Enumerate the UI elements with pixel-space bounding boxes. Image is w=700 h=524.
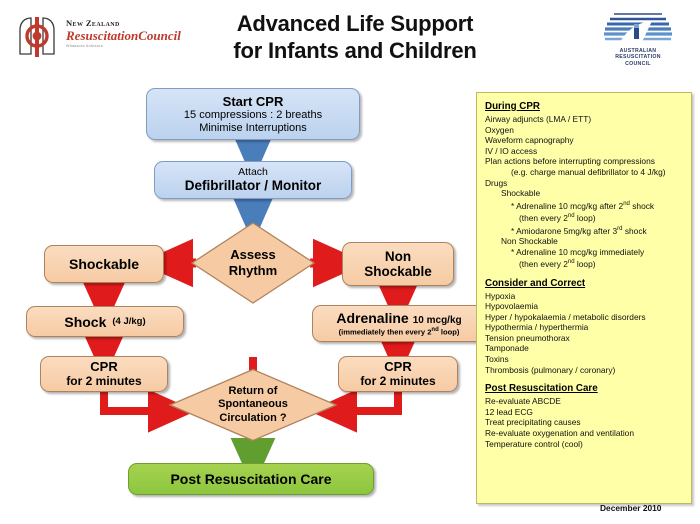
connector-cprright-rosc — [333, 392, 398, 411]
drugs-shockable-label: Shockable — [485, 188, 685, 199]
nz-logo-line2: ResuscitationCouncil — [66, 29, 181, 42]
consider-correct-item: Tamponade — [485, 343, 685, 354]
consider-correct-item: Hyper / hypokalaemia / metabolic disorde… — [485, 312, 685, 323]
drugs-non-shockable-item-2-sup: nd — [568, 259, 575, 265]
node-shock[interactable]: Shock (4 J/kg) — [26, 306, 184, 337]
nz-resuscitation-council-logo: New Zealand ResuscitationCouncil Whakaor… — [14, 14, 174, 64]
node-non-shockable[interactable]: Non Shockable — [342, 242, 454, 286]
node-shockable[interactable]: Shockable — [44, 245, 164, 283]
drugs-non-shockable-item-2-post: loop) — [575, 259, 596, 269]
node-adrenaline[interactable]: Adrenaline 10 mcg/kg (immediately then e… — [312, 305, 486, 342]
panel-spacer — [485, 375, 685, 383]
drugs-non-shockable-item-2-text: (then every 2 — [519, 259, 568, 269]
nz-logo-mark — [14, 14, 60, 60]
drugs-shockable-item-1: * Adrenaline 10 mcg/kg after 2nd shock — [485, 199, 685, 211]
consider-correct-item: Tension pneumothorax — [485, 333, 685, 344]
panel-spacer — [485, 270, 685, 278]
drugs-shockable-item-2-sup: nd — [568, 213, 575, 219]
node-assess-rhythm[interactable]: Assess Rhythm — [190, 221, 316, 305]
drugs-non-shockable-label: Non Shockable — [485, 236, 685, 247]
post-resus-heading: Post Resuscitation Care — [485, 383, 685, 395]
attach-line2: Defibrillator / Monitor — [185, 178, 322, 194]
consider-correct-item: Hypothermia / hyperthermia — [485, 322, 685, 333]
during-cpr-item: Plan actions before interrupting compres… — [485, 156, 685, 167]
arc-logo-text: AUSTRALIAN RESUSCITATION COUNCIL — [590, 48, 686, 67]
adrenaline-dose: 10 mcg/kg — [413, 315, 462, 326]
during-cpr-plan-note: (e.g. charge manual defibrillator to 4 J… — [485, 167, 685, 178]
node-rosc[interactable]: Return of Spontaneous Circulation ? — [168, 368, 338, 442]
during-cpr-item: Airway adjuncts (LMA / ETT) — [485, 114, 685, 125]
connector-cprleft-rosc — [104, 392, 172, 411]
adrenaline-note-sup: nd — [431, 327, 438, 333]
page-title-line1: Advanced Life Support — [175, 10, 535, 37]
during-cpr-item: Oxygen — [485, 125, 685, 136]
consider-correct-heading: Consider and Correct — [485, 278, 685, 290]
drugs-shockable-item-1-text: * Adrenaline 10 mcg/kg after 2 — [511, 201, 623, 211]
rosc-line2: Spontaneous — [218, 398, 288, 412]
rosc-line3: Circulation ? — [219, 412, 286, 426]
node-cpr-left[interactable]: CPR for 2 minutes — [40, 356, 168, 392]
drugs-shockable-item-3: * Amiodarone 5mg/kg after 3rd shock — [485, 224, 685, 236]
drugs-shockable-item-2-post: loop) — [575, 213, 596, 223]
node-post-resuscitation-care[interactable]: Post Resuscitation Care — [128, 463, 374, 495]
cpr-left-line1: CPR — [90, 360, 117, 374]
nz-logo-line1: New Zealand — [66, 18, 181, 28]
page-title-line2: for Infants and Children — [175, 37, 535, 64]
consider-correct-item: Toxins — [485, 354, 685, 365]
assess-line1: Assess — [230, 247, 276, 263]
cpr-right-line1: CPR — [384, 360, 411, 374]
start-cpr-line3: Minimise Interruptions — [199, 122, 307, 135]
adrenaline-note: (immediately then every 2nd loop) — [339, 326, 460, 337]
footer-date: December 2010 — [600, 503, 661, 513]
post-resus-item: Treat precipitating causes — [485, 417, 685, 428]
arc-logo-mark — [590, 8, 686, 48]
drugs-shockable-item-3-post: shock — [623, 225, 647, 235]
rosc-line1: Return of — [229, 385, 278, 399]
consider-correct-item: Thrombosis (pulmonary / coronary) — [485, 365, 685, 376]
drugs-shockable-item-2: (then every 2nd loop) — [485, 211, 685, 223]
during-cpr-heading: During CPR — [485, 101, 685, 113]
attach-line1: Attach — [238, 166, 268, 178]
post-resus-item: Temperature control (cool) — [485, 439, 685, 450]
adrenaline-name: Adrenaline — [336, 310, 408, 326]
during-cpr-item: IV / IO access — [485, 146, 685, 157]
drugs-non-shockable-item-2: (then every 2nd loop) — [485, 257, 685, 269]
shockable-label: Shockable — [69, 256, 139, 272]
info-panel: During CPR Airway adjuncts (LMA / ETT) O… — [476, 92, 692, 504]
assess-line2: Rhythm — [229, 263, 277, 279]
shock-label: Shock — [64, 314, 106, 330]
shock-dose: (4 J/kg) — [112, 316, 145, 327]
drugs-shockable-item-1-sup: nd — [623, 201, 630, 207]
consider-correct-item: Hypoxia — [485, 291, 685, 302]
node-attach-defibrillator[interactable]: Attach Defibrillator / Monitor — [154, 161, 352, 199]
node-cpr-right[interactable]: CPR for 2 minutes — [338, 356, 458, 392]
consider-correct-item: Hypovolaemia — [485, 301, 685, 312]
post-resus-item: Re-evaluate ABCDE — [485, 396, 685, 407]
drugs-non-shockable-item-1: * Adrenaline 10 mcg/kg immediately — [485, 247, 685, 258]
australian-resuscitation-council-logo: AUSTRALIAN RESUSCITATION COUNCIL — [590, 8, 686, 74]
adrenaline-note-pre: (immediately then every 2 — [339, 328, 432, 337]
arc-logo-line3: COUNCIL — [590, 61, 686, 67]
drugs-shockable-item-3-text: * Amiodarone 5mg/kg after 3 — [511, 225, 617, 235]
post-resus-item: 12 lead ECG — [485, 407, 685, 418]
nz-logo-line3: Whakaora Aotearoa — [66, 44, 181, 48]
non-shockable-line1: Non — [385, 249, 411, 265]
cpr-right-line2: for 2 minutes — [360, 374, 435, 388]
cpr-left-line2: for 2 minutes — [66, 374, 141, 388]
start-cpr-title: Start CPR — [223, 94, 284, 109]
post-care-label: Post Resuscitation Care — [170, 471, 331, 487]
drugs-label: Drugs — [485, 178, 685, 189]
post-resus-item: Re-evaluate oxygenation and ventilation — [485, 428, 685, 439]
non-shockable-line2: Shockable — [364, 264, 432, 280]
drugs-shockable-item-2-text: (then every 2 — [519, 213, 568, 223]
drugs-shockable-item-1-post: shock — [630, 201, 654, 211]
page-title: Advanced Life Support for Infants and Ch… — [175, 10, 535, 64]
start-cpr-line2: 15 compressions : 2 breaths — [184, 109, 322, 122]
during-cpr-item: Waveform capnography — [485, 135, 685, 146]
node-start-cpr[interactable]: Start CPR 15 compressions : 2 breaths Mi… — [146, 88, 360, 140]
adrenaline-note-post: loop) — [439, 328, 460, 337]
